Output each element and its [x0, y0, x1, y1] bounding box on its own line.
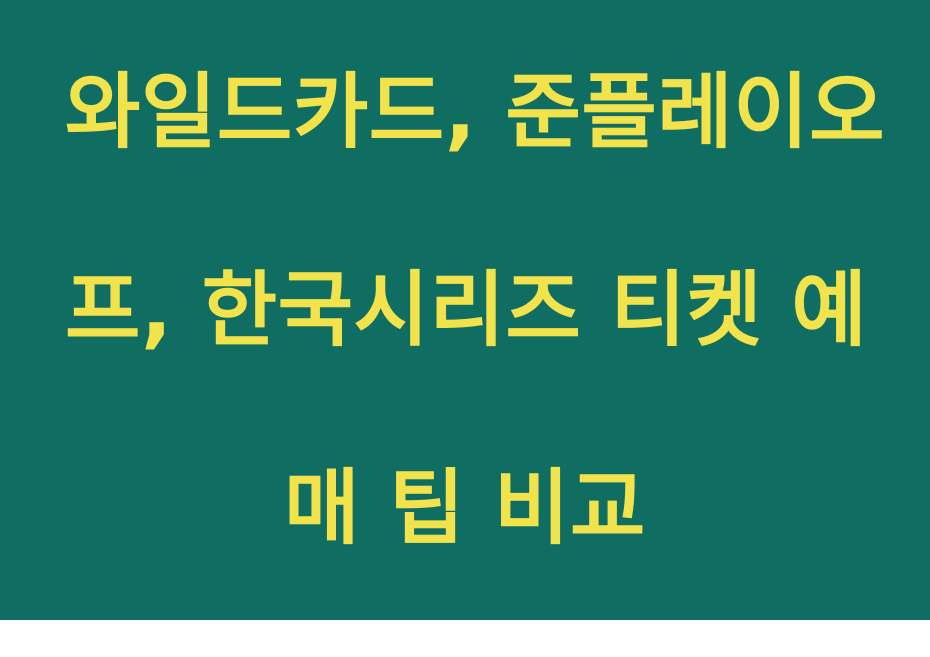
headline-line-1: 와일드카드, 준플레이오 [65, 63, 865, 162]
headline-line-2: 프, 한국시리즈 티켓 예 [65, 261, 865, 360]
headline-line-3: 매 팁 비교 [65, 459, 865, 558]
poster-canvas: 와일드카드, 준플레이오 프, 한국시리즈 티켓 예 매 팁 비교 [0, 0, 930, 620]
page-title: 와일드카드, 준플레이오 프, 한국시리즈 티켓 예 매 팁 비교 [65, 0, 865, 657]
